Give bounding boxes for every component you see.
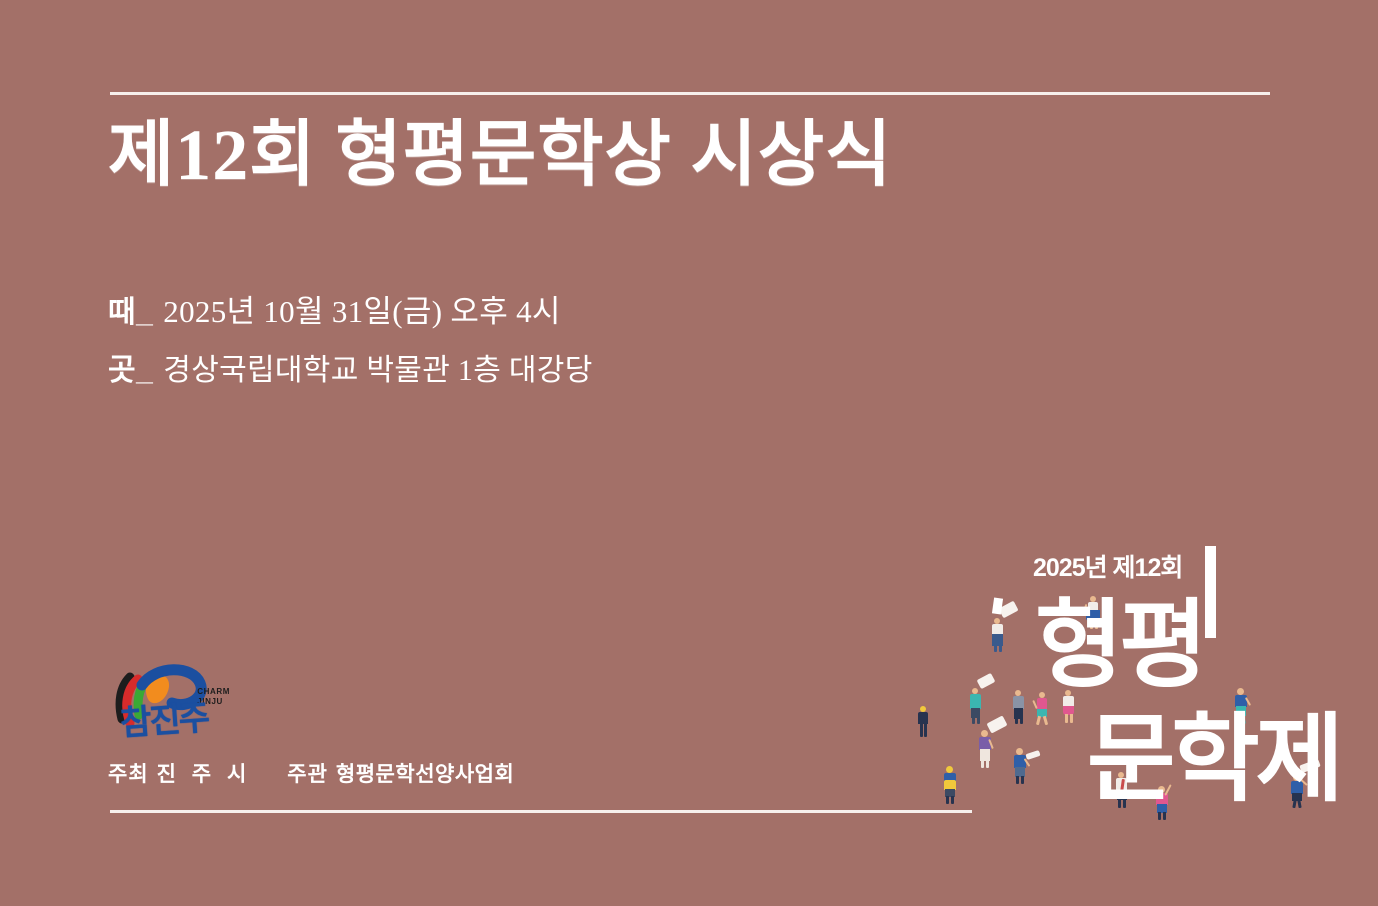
jinju-city-emblem: CHARM JINJU 참진주 — [108, 655, 232, 741]
speech-bubble — [986, 715, 1007, 733]
bottom-divider-rule — [110, 810, 972, 813]
event-details: 때_ 2025년 10월 31일(금) 오후 4시 곳_ 경상국립대학교 박물관… — [108, 286, 593, 403]
place-value: 경상국립대학교 박물관 1층 대강당 — [163, 345, 592, 389]
festival-logo-stem — [1205, 546, 1216, 638]
festival-logo-line-2: 문학제 — [1087, 712, 1340, 808]
page-title: 제12회 형평문학상 시상식 — [108, 118, 892, 193]
host-group: 주최 진 주 시 — [108, 758, 251, 788]
festival-logo: 2025년 제12회 형평 문학제 — [1015, 540, 1315, 840]
poster-canvas: 제12회 형평문학상 시상식 때_ 2025년 10월 31일(금) 오후 4시… — [0, 0, 1378, 906]
city-emblem-korean: 참진주 — [118, 690, 209, 745]
figure-navy-small — [915, 706, 931, 738]
top-divider-rule — [110, 92, 1270, 95]
organizer-label: 주관 — [287, 758, 328, 788]
detail-row-date: 때_ 2025년 10월 31일(금) 오후 4시 — [108, 286, 593, 331]
figure-purple-top — [975, 730, 995, 768]
date-label: 때_ — [108, 287, 153, 331]
host-label: 주최 — [108, 758, 149, 788]
host-value: 진 주 시 — [157, 758, 252, 788]
organizer-value: 형평문학선양사업회 — [336, 758, 514, 788]
date-value: 2025년 10월 31일(금) 오후 4시 — [163, 286, 560, 331]
figure-teal-coat — [967, 688, 985, 724]
place-label: 곳_ — [108, 345, 153, 389]
festival-logo-line-1: 형평 — [1035, 598, 1204, 694]
organizer-group: 주관 형평문학선양사업회 — [287, 758, 514, 788]
detail-row-place: 곳_ 경상국립대학교 박물관 1층 대강당 — [108, 345, 593, 389]
figure-yellow-vest — [940, 766, 960, 804]
speech-bubble — [977, 673, 996, 689]
credits-line: 주최 진 주 시 주관 형평문학선양사업회 — [108, 758, 514, 788]
festival-logo-year: 2025년 제12회 — [1033, 548, 1182, 584]
figure-white-top-bubble — [989, 618, 1007, 652]
